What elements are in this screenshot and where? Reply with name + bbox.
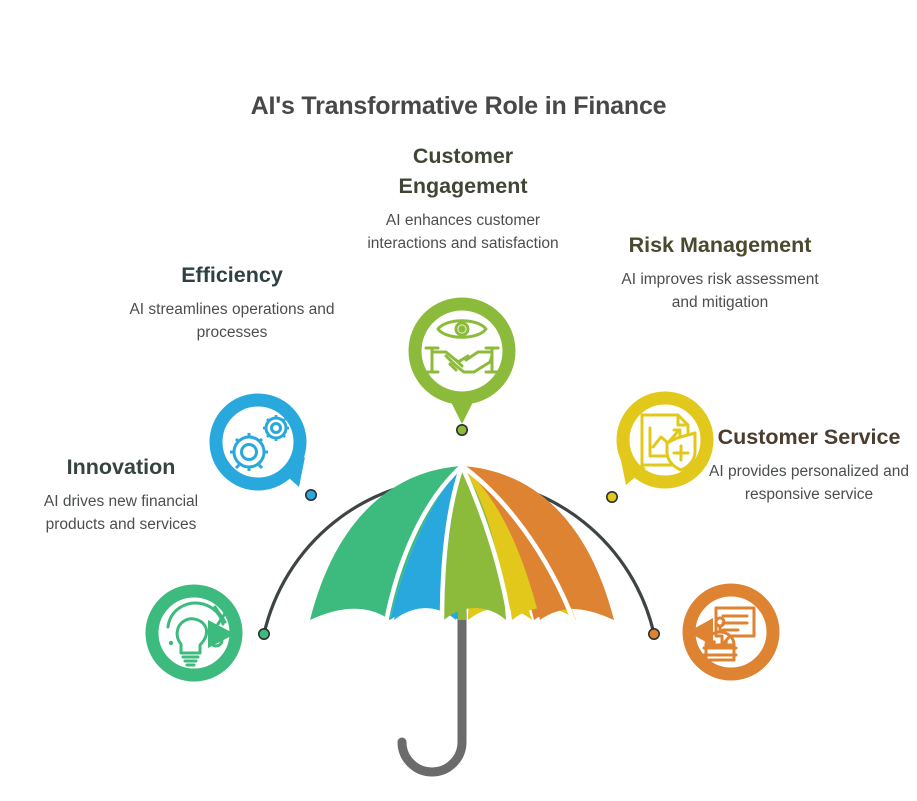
badge-customer-engagement[interactable] [415, 304, 509, 424]
eye-handshake-icon [426, 321, 498, 372]
lightbulb-idea-icon [168, 603, 228, 665]
badge-innovation[interactable] [152, 591, 236, 675]
badge-customer-service[interactable] [688, 590, 773, 674]
infographic-canvas: AI's Transformative Role in Finance Effi… [0, 0, 917, 801]
arc-dot-customer-engagement [457, 425, 467, 435]
diagram-graphics [0, 0, 917, 801]
arc-dot-customer-service [649, 629, 659, 639]
arc-dot-efficiency [306, 490, 316, 500]
document-chart-shield-icon [642, 415, 695, 470]
gears-icon [230, 415, 289, 471]
badge-efficiency[interactable] [216, 400, 305, 487]
badge-ring-customer-engagement [415, 304, 509, 398]
arc-dot-innovation [259, 629, 269, 639]
badge-risk-management[interactable] [620, 398, 707, 485]
badge-ring-efficiency [216, 400, 300, 484]
chatbot-message-icon [704, 608, 754, 660]
arc-dot-risk-management [607, 492, 617, 502]
